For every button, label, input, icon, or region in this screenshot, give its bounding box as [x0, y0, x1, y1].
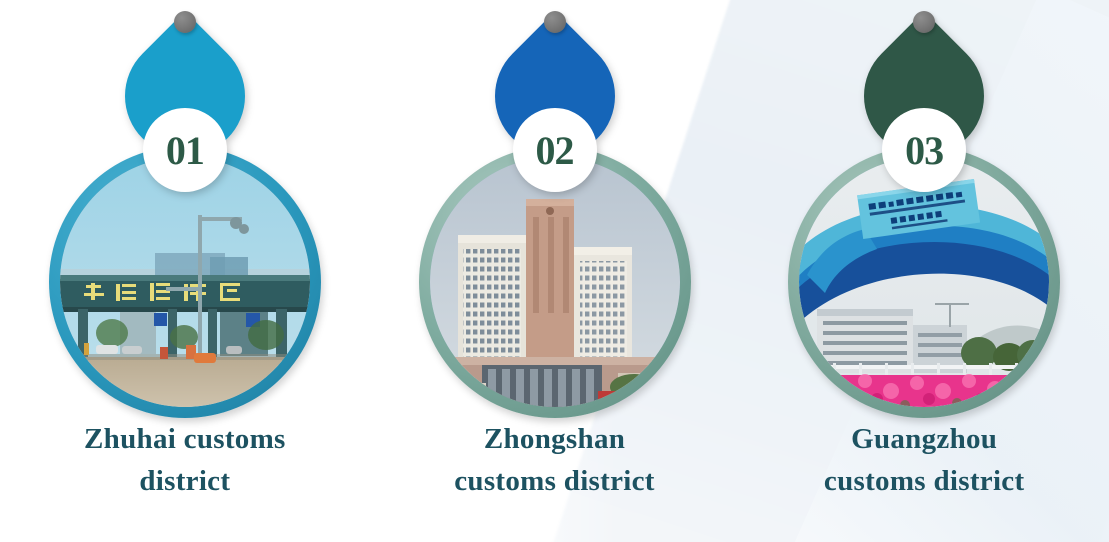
- card-03[interactable]: 03: [739, 0, 1109, 542]
- card-row: 01: [0, 0, 1109, 542]
- card-01[interactable]: 01: [0, 0, 370, 542]
- caption-line-2: customs district: [370, 460, 740, 502]
- photo-zhuhai-border-gate: [60, 157, 310, 407]
- card-caption: Zhongshan customs district: [370, 418, 740, 502]
- photo-zhongshan-highrise: [430, 157, 680, 407]
- pin-icon: [913, 11, 935, 33]
- card-caption: Guangzhou customs district: [739, 418, 1109, 502]
- caption-line-1: Guangzhou: [851, 423, 997, 455]
- photo-svg: [60, 157, 310, 407]
- caption-line-1: Zhongshan: [484, 423, 625, 455]
- pin-icon: [174, 11, 196, 33]
- card-number: 03: [905, 131, 943, 171]
- card-caption: Zhuhai customs district: [0, 418, 370, 502]
- caption-line-2: district: [0, 460, 370, 502]
- photo-svg: [799, 157, 1049, 407]
- card-number: 01: [166, 131, 204, 171]
- photo-svg: [430, 157, 680, 407]
- number-circle: 01: [143, 108, 227, 192]
- number-circle: 02: [513, 108, 597, 192]
- card-02[interactable]: 02: [370, 0, 740, 542]
- poster-stage: 01: [0, 0, 1109, 542]
- caption-line-1: Zhuhai customs: [84, 423, 286, 455]
- number-circle: 03: [882, 108, 966, 192]
- teardrop-badge: 02: [493, 22, 617, 162]
- photo-guangzhou-ftz-archway: [799, 157, 1049, 407]
- teardrop-badge: 01: [123, 22, 247, 162]
- pin-icon: [544, 11, 566, 33]
- teardrop-badge: 03: [862, 22, 986, 162]
- card-number: 02: [536, 131, 574, 171]
- caption-line-2: customs district: [739, 460, 1109, 502]
